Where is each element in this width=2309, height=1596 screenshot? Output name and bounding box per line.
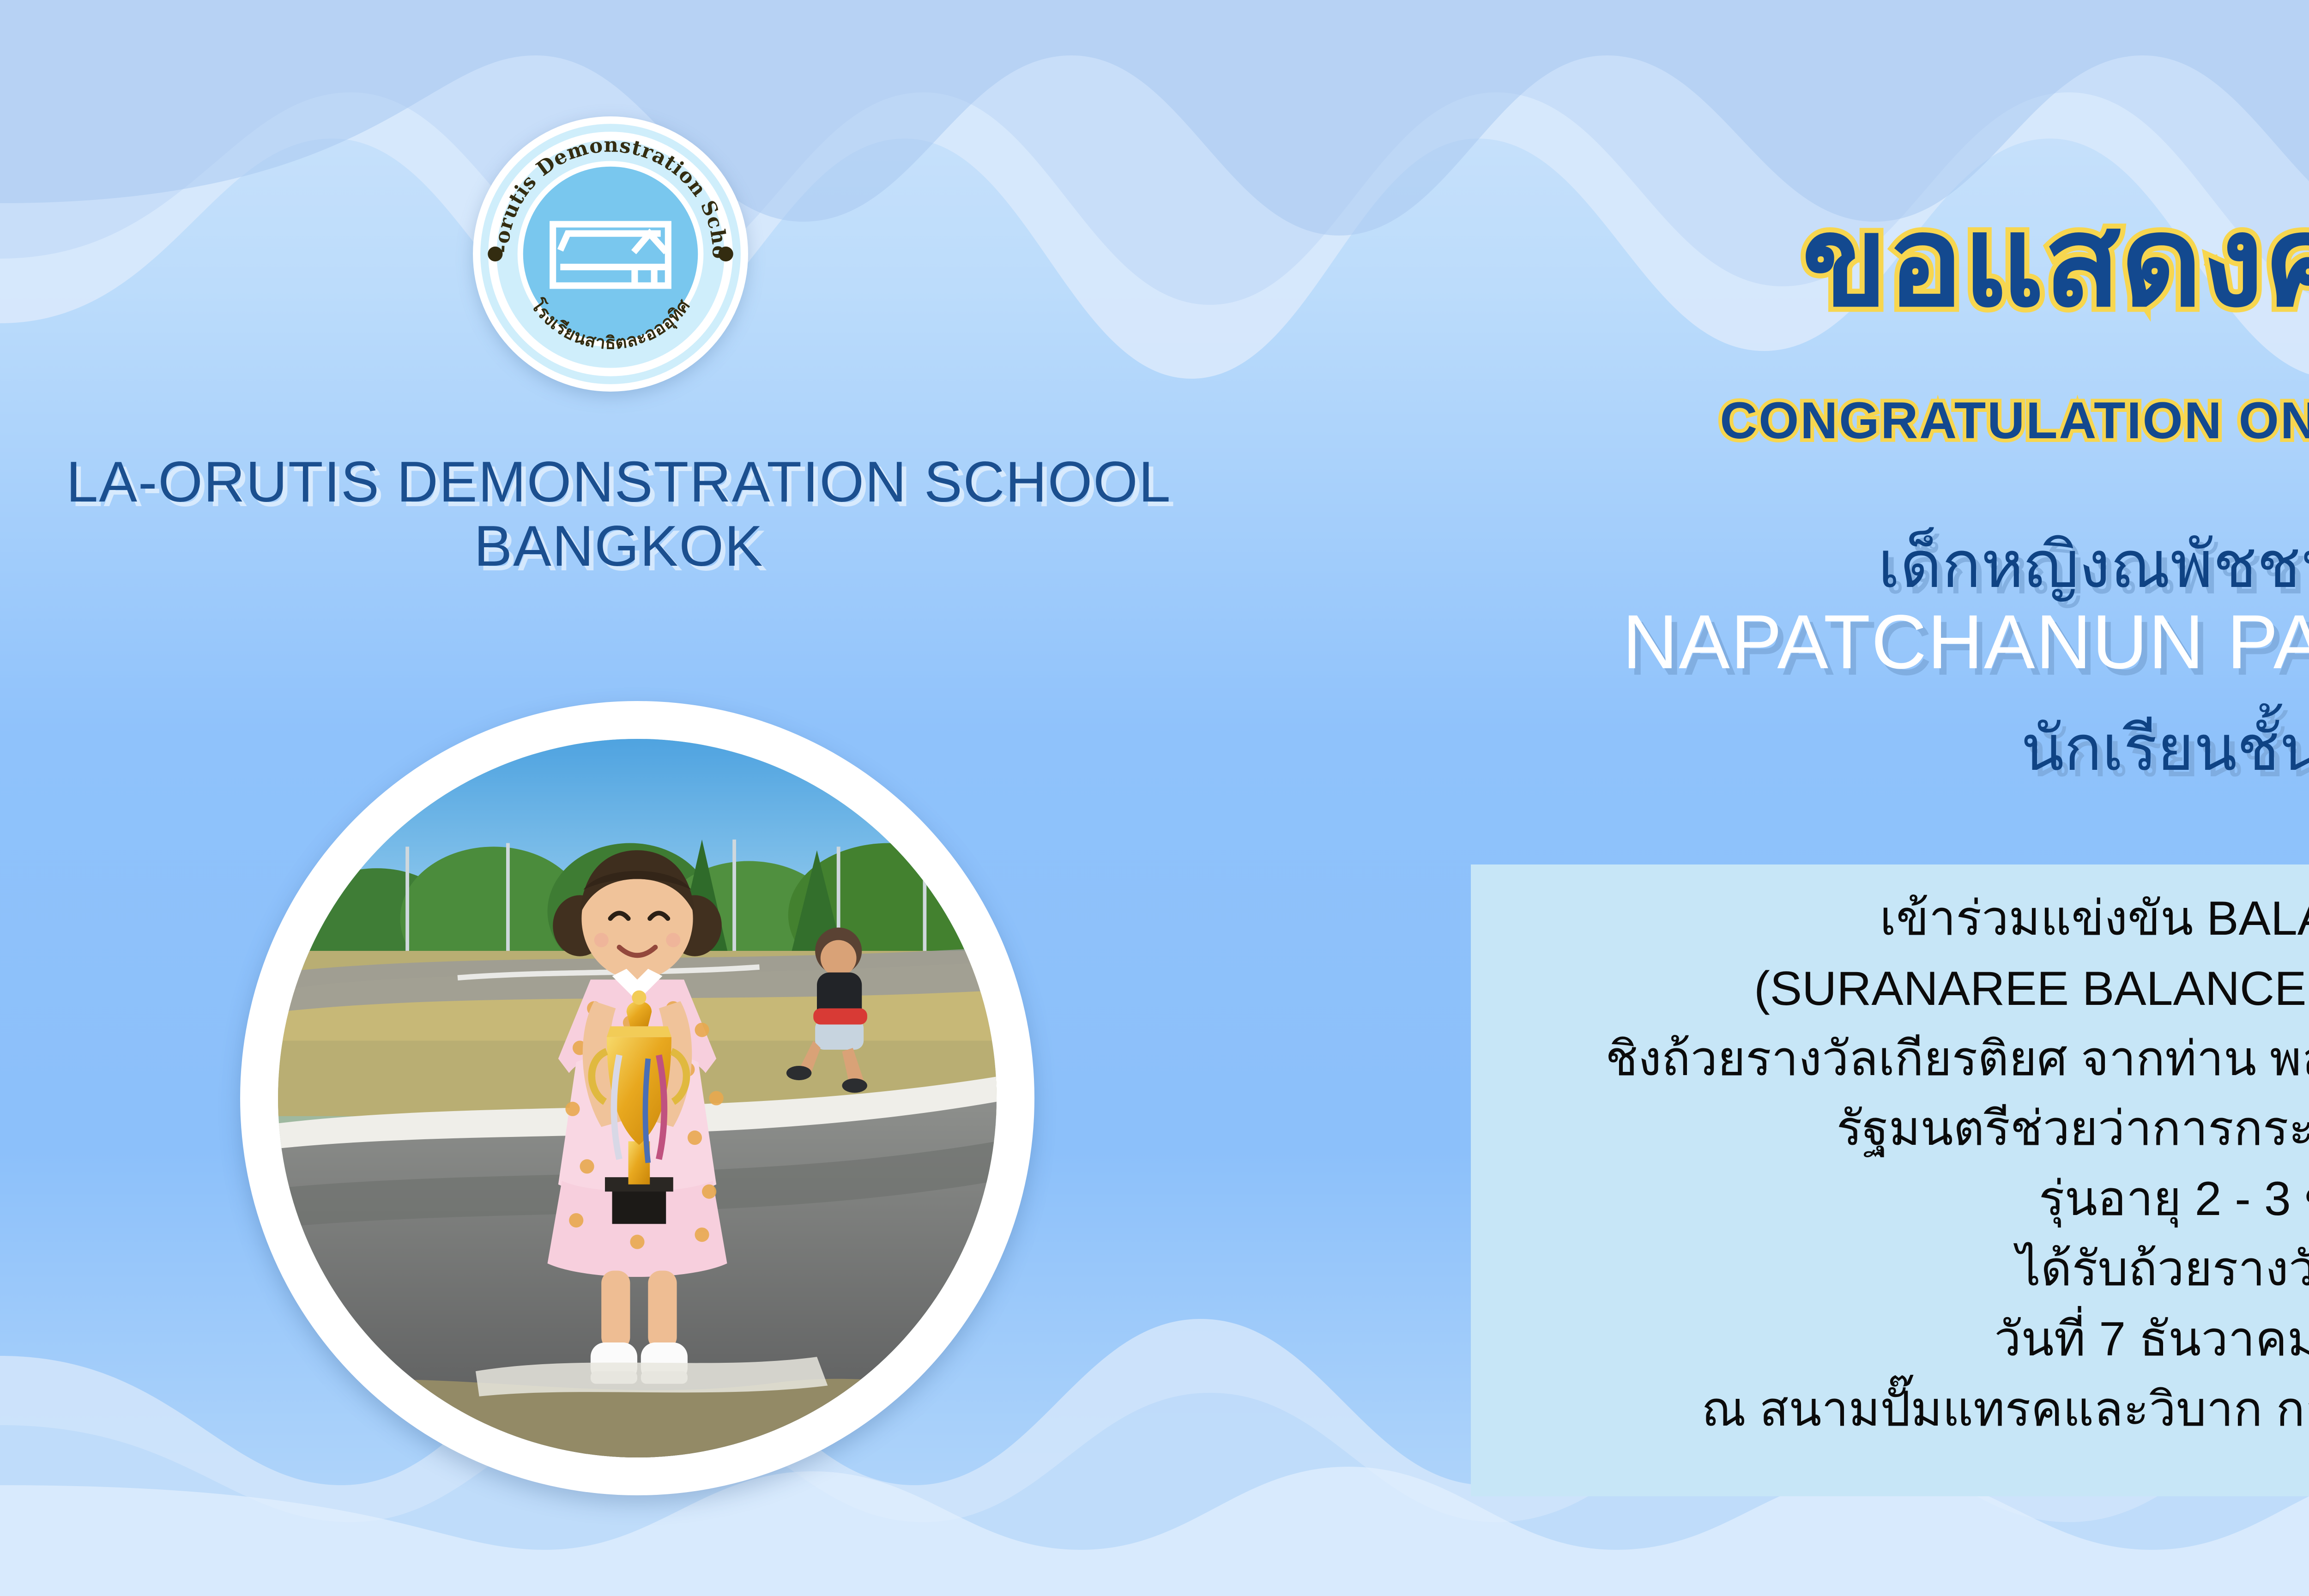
- achievement-detail-box: เข้าร่วมแข่งขัน BALANCE BIKE (SURANAREE …: [1471, 864, 2309, 1496]
- right-column: ขอแสดงความยินดี CONGRATULATION ON YOUR A…: [1422, 0, 2309, 1596]
- school-logo: La-orutis Demonstration School โรงเรียนส…: [471, 115, 750, 393]
- student-name-thai: เด็กหญิงณพัชชนันท์ ปัทมกุลชัย: [1422, 526, 2309, 603]
- student-photo-frame: [240, 701, 1034, 1495]
- achievement-line-7: วันที่ 7 ธันวาคม 2568: [1471, 1305, 2309, 1375]
- headline-thai: ขอแสดงความยินดี: [1422, 199, 2309, 324]
- logo-dot-right: [719, 247, 733, 261]
- congratulation-banner: La-orutis Demonstration School โรงเรียนส…: [0, 0, 2309, 1596]
- achievement-line-5: รุ่นอายุ 2 - 3 ขวบ: [1471, 1164, 2309, 1234]
- student-name-english: NAPATCHANUN PATTHAMAKUNCHAI: [1422, 600, 2309, 685]
- achievement-line-6: ได้รับถ้วยรางวัลที่ 6: [1471, 1234, 2309, 1305]
- achievement-line-1: เข้าร่วมแข่งขัน BALANCE BIKE: [1471, 884, 2309, 954]
- school-name-line2: BANGKOK: [0, 514, 1238, 579]
- student-class-level: นักเรียนชั้นบ้านสาธิต: [1422, 711, 2309, 785]
- student-photo-illustration: [278, 739, 997, 1457]
- left-column: La-orutis Demonstration School โรงเรียนส…: [0, 0, 1422, 1596]
- school-name-line1: LA-ORUTIS DEMONSTRATION SCHOOL: [66, 450, 1171, 514]
- achievement-line-3: ชิงถ้วยรางวัลเกียรติยศ จากท่าน พลโท อดุล…: [1471, 1024, 2309, 1094]
- school-crest-icon: La-orutis Demonstration School โรงเรียนส…: [471, 115, 750, 393]
- headline-english: CONGRATULATION ON YOUR ACHIEVEMENT: [1422, 395, 2309, 447]
- achievement-line-4: รัฐมนตรีช่วยว่าการกระทรวงกลาโหม: [1471, 1094, 2309, 1164]
- school-name: LA-ORUTIS DEMONSTRATION SCHOOL BANGKOK: [0, 450, 1238, 579]
- achievement-line-2: (SURANAREE BALANCE BIKE CUP 2025): [1471, 954, 2309, 1024]
- logo-dot-left: [488, 247, 502, 261]
- student-photo: [278, 739, 997, 1457]
- achievement-line-8: ณ สนามปั๊มแทรคและวิบาก กองทัพภาคที่ 2 (ท…: [1471, 1375, 2309, 1445]
